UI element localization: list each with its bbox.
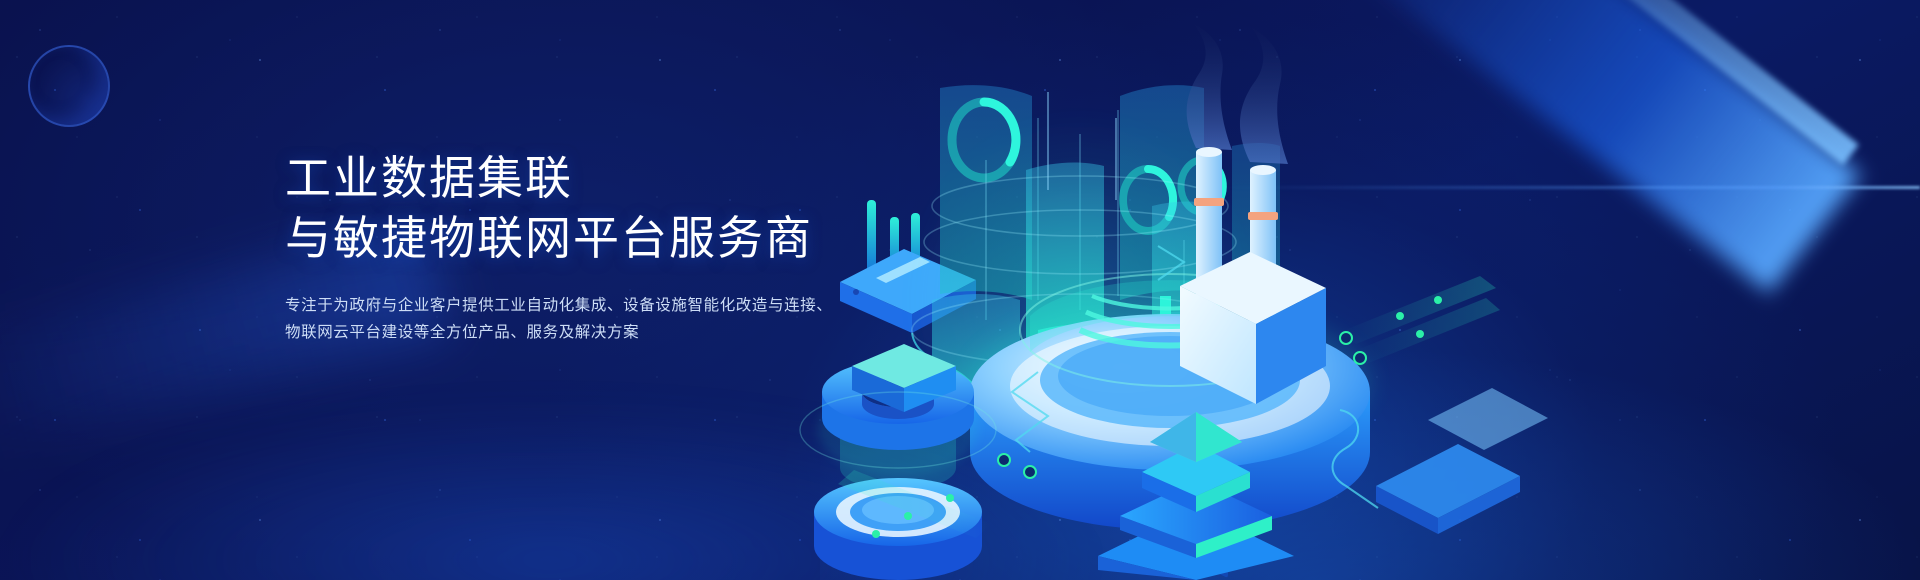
headline-line-2: 与敏捷物联网平台服务商 (285, 208, 905, 268)
smoke-plume-right (1240, 28, 1288, 164)
headline-line-1: 工业数据集联 (285, 148, 905, 208)
hero-banner: 工业数据集联 与敏捷物联网平台服务商 专注于为政府与企业客户提供工业自动化集成、… (0, 0, 1920, 580)
hero-illustration (780, 0, 1920, 580)
ground-slabs (1376, 388, 1548, 534)
subtitle-line-2: 物联网云平台建设等全方位产品、服务及解决方案 (285, 319, 905, 346)
crescent-moon-icon (28, 45, 110, 127)
subtitle-line-1: 专注于为政府与企业客户提供工业自动化集成、设备设施智能化改造与连接、 (285, 292, 905, 319)
smoke-plume-left (1187, 24, 1232, 150)
hero-copy: 工业数据集联 与敏捷物联网平台服务商 专注于为政府与企业客户提供工业自动化集成、… (285, 148, 905, 346)
